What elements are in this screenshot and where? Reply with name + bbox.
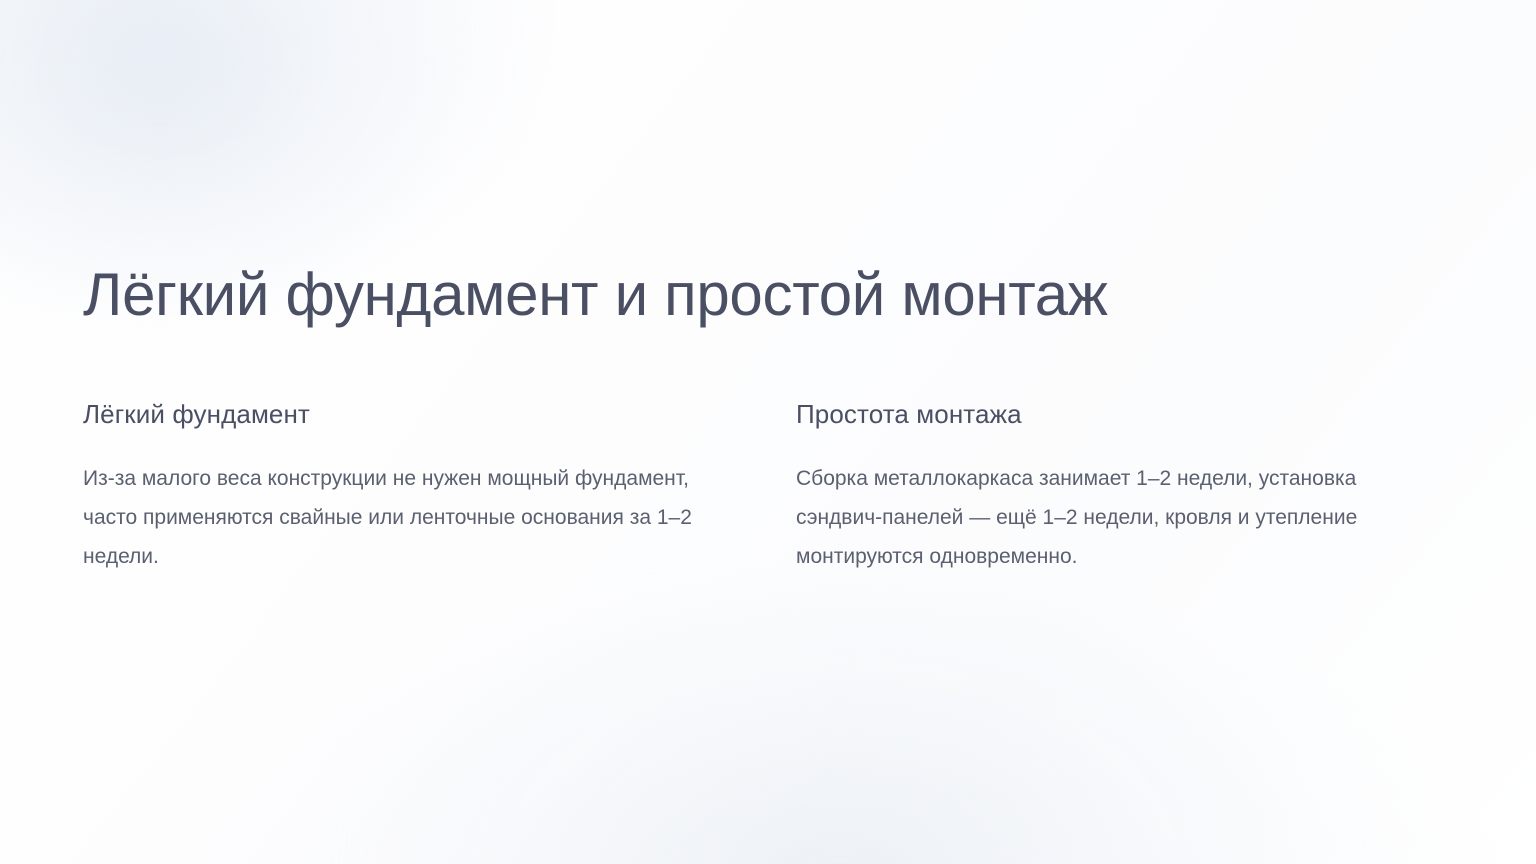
column-easy-installation: Простота монтажа Сборка металлокаркаса з… (796, 398, 1453, 576)
column-body-light-foundation: Из-за малого веса конструкции не нужен м… (83, 459, 723, 576)
columns-container: Лёгкий фундамент Из-за малого веса конст… (83, 398, 1453, 576)
column-heading-light-foundation: Лёгкий фундамент (83, 398, 796, 431)
page-title: Лёгкий фундамент и простой монтаж (83, 262, 1108, 328)
background-blob-bottom (330, 554, 1350, 864)
column-body-easy-installation: Сборка металлокаркаса занимает 1–2 недел… (796, 459, 1436, 576)
column-heading-easy-installation: Простота монтажа (796, 398, 1453, 431)
slide-root: Лёгкий фундамент и простой монтаж Лёгкий… (0, 0, 1536, 864)
column-light-foundation: Лёгкий фундамент Из-за малого веса конст… (83, 398, 796, 576)
